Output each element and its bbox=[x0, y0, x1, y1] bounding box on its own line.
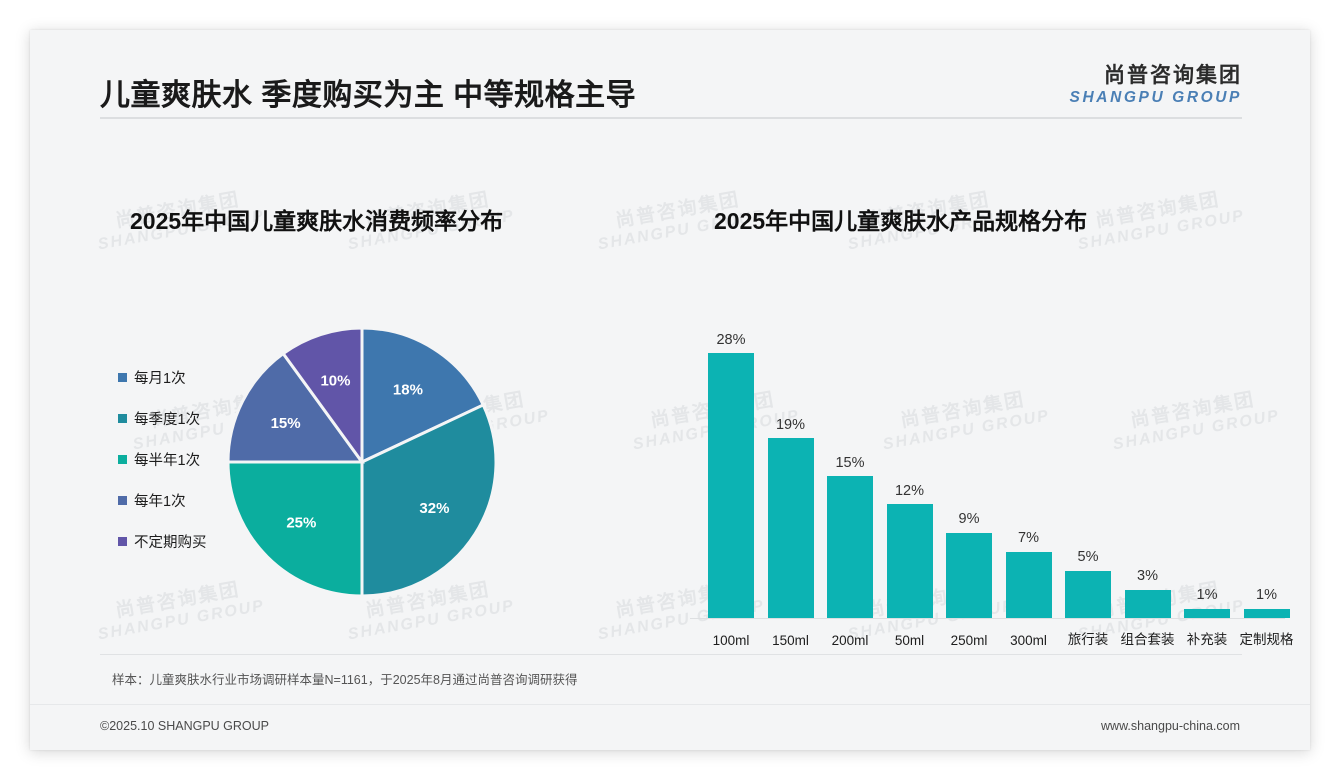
header-divider bbox=[100, 117, 1242, 119]
legend-item[interactable]: 每季度1次 bbox=[118, 408, 207, 429]
legend-item-label: 每月1次 bbox=[134, 367, 186, 388]
bar-rect[interactable] bbox=[946, 533, 992, 618]
legend-item-label: 每年1次 bbox=[134, 490, 186, 511]
bar-rect[interactable] bbox=[1065, 571, 1111, 618]
legend-color-swatch bbox=[118, 537, 127, 546]
legend-item-label: 每半年1次 bbox=[134, 449, 200, 470]
pie-chart-panel: 2025年中国儿童爽肤水消费频率分布 每月1次每季度1次每半年1次每年1次不定期… bbox=[100, 182, 660, 652]
pie-slice-label: 18% bbox=[393, 382, 423, 399]
bar-value-label: 19% bbox=[776, 418, 805, 433]
bar-chart-plot: 28%100ml19%150ml15%200ml12%50ml9%250ml7%… bbox=[680, 266, 1290, 666]
pie-slice-label: 10% bbox=[320, 372, 350, 389]
legend-color-swatch bbox=[118, 414, 127, 423]
bar-value-label: 15% bbox=[835, 456, 864, 471]
slide: 尚普咨询集团SHANGPU GROUP尚普咨询集团SHANGPU GROUP尚普… bbox=[30, 30, 1310, 750]
legend-color-swatch bbox=[118, 455, 127, 464]
bar-rect[interactable] bbox=[887, 504, 933, 618]
legend-item-label: 每季度1次 bbox=[134, 408, 200, 429]
slide-container: 尚普咨询集团SHANGPU GROUP尚普咨询集团SHANGPU GROUP尚普… bbox=[30, 30, 1310, 750]
bar-value-label: 9% bbox=[959, 512, 980, 527]
bar-value-label: 1% bbox=[1256, 588, 1277, 603]
legend-item-label: 不定期购买 bbox=[134, 531, 207, 552]
legend-color-swatch bbox=[118, 373, 127, 382]
legend-color-swatch bbox=[118, 496, 127, 505]
logo-text-en: SHANGPU GROUP bbox=[1070, 89, 1242, 108]
legend-item[interactable]: 不定期购买 bbox=[118, 531, 207, 552]
bar-chart-axis-line bbox=[690, 618, 1285, 619]
bar-rect[interactable] bbox=[1184, 609, 1230, 618]
bar-rect[interactable] bbox=[1006, 552, 1052, 618]
bar-chart-panel: 2025年中国儿童爽肤水产品规格分布 28%100ml19%150ml15%20… bbox=[680, 182, 1290, 652]
bar-value-label: 5% bbox=[1078, 550, 1099, 565]
footnote-divider bbox=[100, 654, 1242, 655]
bar-category-label: 定制规格 bbox=[1222, 628, 1311, 648]
bar-column[interactable]: 1% bbox=[1228, 313, 1306, 618]
bar-value-label: 1% bbox=[1197, 588, 1218, 603]
bar-value-label: 28% bbox=[716, 333, 745, 348]
legend-item[interactable]: 每月1次 bbox=[118, 367, 207, 388]
page-title: 儿童爽肤水 季度购买为主 中等规格主导 bbox=[100, 70, 636, 114]
slide-header: 儿童爽肤水 季度购买为主 中等规格主导 尚普咨询集团 SHANGPU GROUP bbox=[30, 30, 1310, 125]
bar-rect[interactable] bbox=[708, 353, 754, 618]
pie-legend: 每月1次每季度1次每半年1次每年1次不定期购买 bbox=[118, 367, 207, 552]
pie-chart-svg: 18%32%25%15%10% bbox=[222, 322, 502, 602]
bar-rect[interactable] bbox=[1125, 590, 1171, 618]
slide-footer: ©2025.10 SHANGPU GROUP www.shangpu-china… bbox=[30, 704, 1310, 750]
pie-slice-label: 32% bbox=[419, 500, 449, 517]
footnote-text: 样本：儿童爽肤水行业市场调研样本量N=1161，于2025年8月通过尚普咨询调研… bbox=[112, 669, 577, 688]
legend-item[interactable]: 每年1次 bbox=[118, 490, 207, 511]
bar-rect[interactable] bbox=[827, 476, 873, 618]
footer-website[interactable]: www.shangpu-china.com bbox=[1101, 719, 1240, 733]
pie-chart: 18%32%25%15%10% bbox=[222, 322, 502, 602]
bar-value-label: 3% bbox=[1137, 569, 1158, 584]
bar-value-label: 7% bbox=[1018, 531, 1039, 546]
pie-chart-title: 2025年中国儿童爽肤水消费频率分布 bbox=[130, 202, 503, 236]
pie-slice-label: 15% bbox=[271, 415, 301, 432]
logo-text-cn: 尚普咨询集团 bbox=[1070, 63, 1242, 89]
bar-chart-title: 2025年中国儿童爽肤水产品规格分布 bbox=[714, 202, 1087, 236]
pie-slice-label: 25% bbox=[286, 515, 316, 532]
bar-value-label: 12% bbox=[895, 484, 924, 499]
bar-rect[interactable] bbox=[768, 438, 814, 618]
company-logo: 尚普咨询集团 SHANGPU GROUP bbox=[1070, 63, 1242, 108]
bar-rect[interactable] bbox=[1244, 609, 1290, 618]
legend-item[interactable]: 每半年1次 bbox=[118, 449, 207, 470]
footer-copyright: ©2025.10 SHANGPU GROUP bbox=[100, 719, 269, 733]
